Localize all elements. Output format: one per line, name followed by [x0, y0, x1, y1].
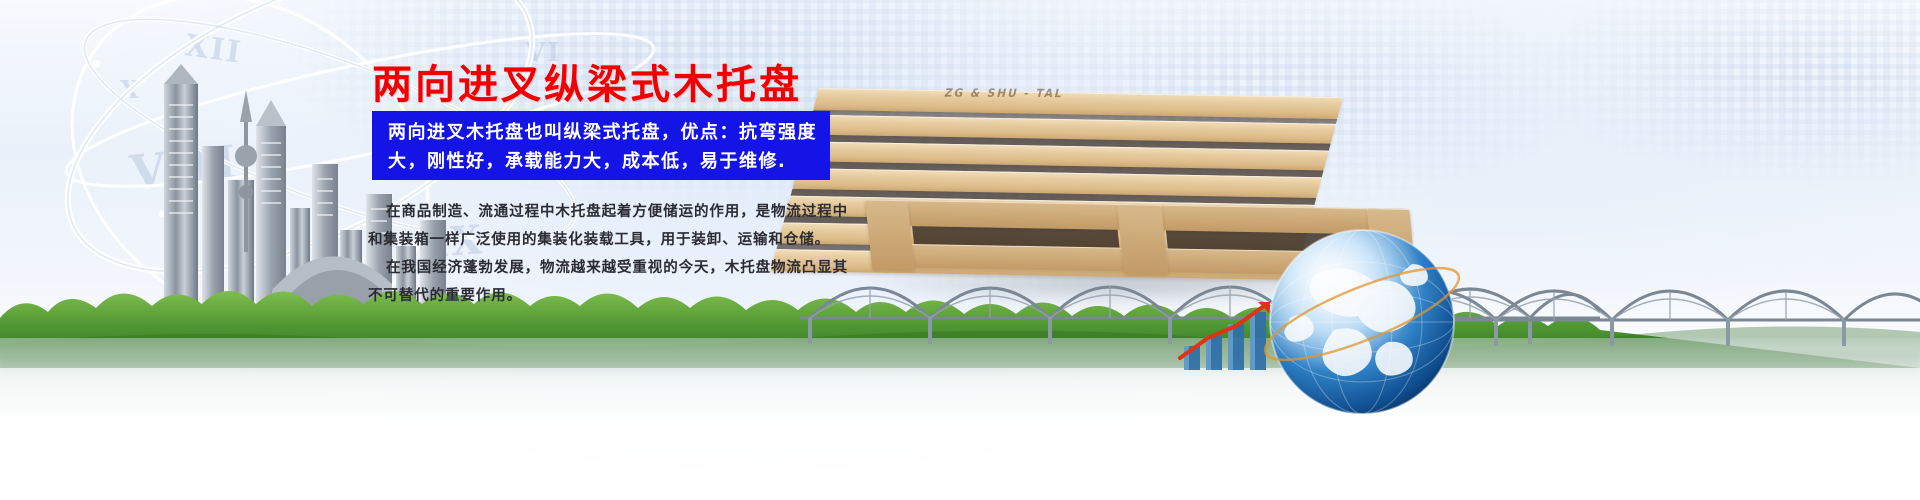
description-paragraphs: 在商品制造、流通过程中木托盘起着方便储运的作用，是物流过程中和集装箱一样广泛使用…: [368, 198, 848, 310]
highlight-line-1: 两向进叉木托盘也叫纵梁式托盘，优点：抗弯强度: [388, 118, 816, 147]
page-title: 两向进叉纵梁式木托盘: [372, 52, 802, 110]
globe-graphic: [1262, 222, 1462, 422]
pallet-stencil-text: ZG & SHU - TAL: [943, 86, 1065, 100]
description-paragraph-1: 在商品制造、流通过程中木托盘起着方便储运的作用，是物流过程中和集装箱一样广泛使用…: [368, 198, 848, 254]
promo-banner: VIII XII IX VI X IV: [0, 0, 1920, 500]
description-paragraph-2: 在我国经济蓬勃发展，物流越来越受重视的今天，木托盘物流凸显其不可替代的重要作用。: [368, 254, 848, 310]
water-streak: [0, 352, 1920, 378]
highlight-callout-box: 两向进叉木托盘也叫纵梁式托盘，优点：抗弯强度 大，刚性好，承载能力大，成本低，易…: [372, 111, 830, 180]
highlight-line-2: 大，刚性好，承载能力大，成本低，易于维修.: [388, 147, 816, 176]
